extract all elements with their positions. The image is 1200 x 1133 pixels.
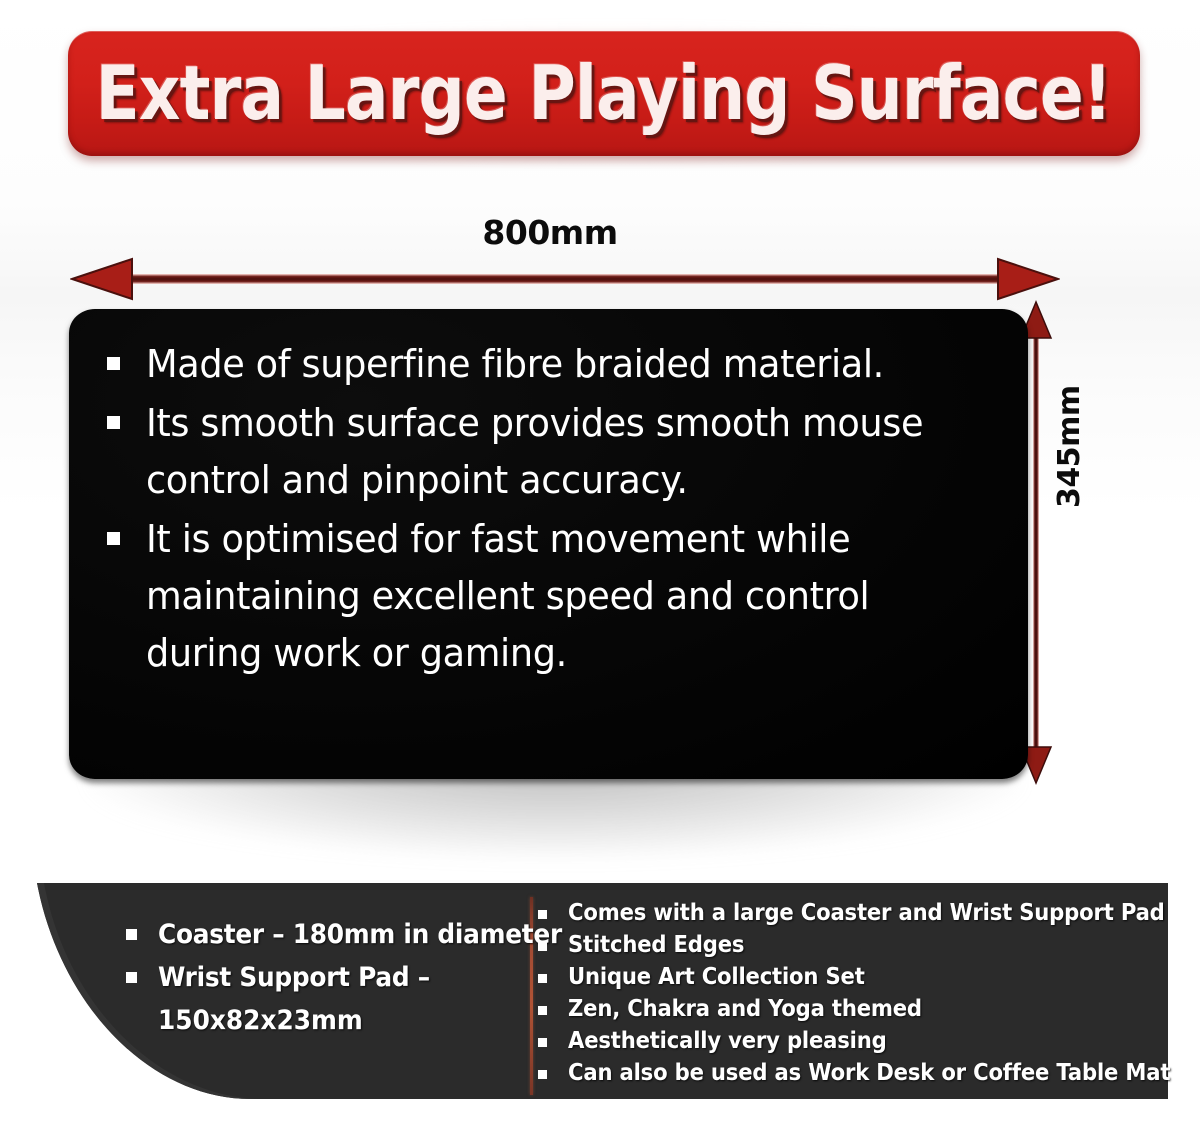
square-bullet-icon (538, 942, 547, 951)
left-item-text-continuation: 150x82x23mm (158, 999, 497, 1042)
square-bullet-icon (538, 910, 547, 919)
square-bullet-icon (126, 929, 137, 940)
square-bullet-icon (107, 532, 120, 545)
square-bullet-icon (126, 972, 137, 983)
header-banner: Extra Large Playing Surface! (68, 31, 1140, 156)
mousepad-surface: Made of superfine fibre braided material… (69, 309, 1028, 779)
right-item-text: Stitched Edges (568, 929, 744, 961)
width-dimension-arrow (70, 255, 1060, 307)
list-item: Can also be used as Work Desk or Coffee … (538, 1057, 1188, 1089)
mousepad-feature-list: Made of superfine fibre braided material… (107, 336, 1002, 684)
list-item: Aesthetically very pleasing (538, 1025, 1188, 1057)
list-item: Comes with a large Coaster and Wrist Sup… (538, 897, 1188, 929)
right-item-text: Comes with a large Coaster and Wrist Sup… (568, 897, 1165, 929)
square-bullet-icon (538, 1006, 547, 1015)
list-item: Its smooth surface provides smooth mouse… (107, 395, 1002, 509)
mousepad-bullet-text: Its smooth surface provides smooth mouse… (146, 395, 972, 509)
list-item: Wrist Support Pad – (126, 956, 526, 999)
square-bullet-icon (107, 357, 120, 370)
right-item-text: Unique Art Collection Set (568, 961, 865, 993)
width-dimension-label: 800mm (0, 213, 1100, 252)
left-item-text: Coaster – 180mm in diameter (158, 913, 562, 956)
square-bullet-icon (107, 416, 120, 429)
right-item-text: Can also be used as Work Desk or Coffee … (568, 1057, 1170, 1089)
left-item-text: Wrist Support Pad – (158, 956, 430, 999)
panel-right-column: Comes with a large Coaster and Wrist Sup… (538, 897, 1188, 1089)
list-item: Stitched Edges (538, 929, 1188, 961)
mousepad-bullet-text: It is optimised for fast movement while … (146, 511, 972, 682)
right-item-text: Zen, Chakra and Yoga themed (568, 993, 922, 1025)
list-item: It is optimised for fast movement while … (107, 511, 1002, 682)
square-bullet-icon (538, 1070, 547, 1079)
square-bullet-icon (538, 1038, 547, 1047)
list-item: Coaster – 180mm in diameter (126, 913, 526, 956)
mousepad-bullet-text: Made of superfine fibre braided material… (146, 336, 884, 393)
banner-plate: Extra Large Playing Surface! (68, 31, 1140, 156)
banner-title: Extra Large Playing Surface! (96, 56, 1112, 131)
square-bullet-icon (538, 974, 547, 983)
list-item: Unique Art Collection Set (538, 961, 1188, 993)
list-item: Made of superfine fibre braided material… (107, 336, 1002, 393)
bottom-specs-panel: Coaster – 180mm in diameter Wrist Suppor… (0, 875, 1200, 1107)
list-item: Zen, Chakra and Yoga themed (538, 993, 1188, 1025)
right-item-text: Aesthetically very pleasing (568, 1025, 887, 1057)
panel-left-column: Coaster – 180mm in diameter Wrist Suppor… (126, 913, 526, 1042)
